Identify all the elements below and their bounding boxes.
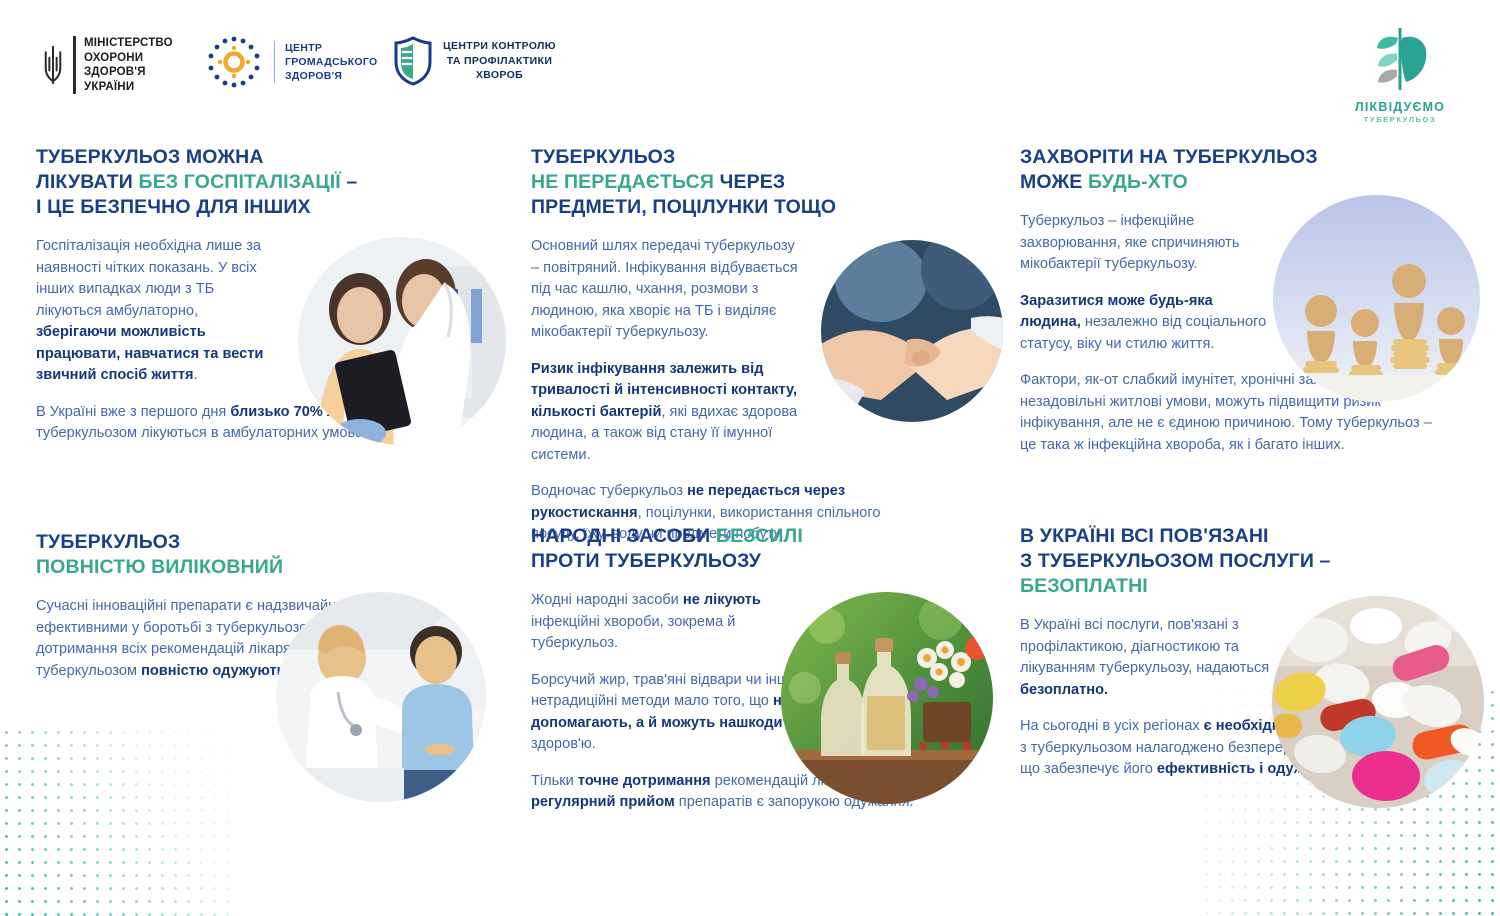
card-title: ТУБЕРКУЛЬОЗПОВНІСТЮ ВИЛІКОВНИЙ xyxy=(36,530,488,580)
lungs-leaf-icon xyxy=(1362,24,1438,98)
card-paragraph: Заразитися може будь-яка людина, незалеж… xyxy=(1020,291,1270,356)
card-title: В УКРАЇНІ ВСІ ПОВ'ЯЗАНІЗ ТУБЕРКУЛЬОЗОМ П… xyxy=(1020,524,1468,599)
phc-line-1: ЦЕНТР xyxy=(285,41,377,55)
logo-ministry-of-health: МІНІСТЕРСТВО ОХОРОНИ ЗДОРОВ'Я УКРАЇНИ xyxy=(42,36,173,94)
infographic-grid: ТУБЕРКУЛЬОЗ МОЖНАЛІКУВАТИ БЕЗ ГОСПІТАЛІЗ… xyxy=(0,132,1500,916)
card-folk-remedies-powerless: НАРОДНІ ЗАСОБИ БЕЗСИЛІПРОТИ ТУБЕРКУЛЬОЗУ xyxy=(531,524,961,814)
handshake-photo xyxy=(821,240,1003,422)
card-paragraph: В Україні всі послуги, пов'язані з профі… xyxy=(1020,615,1270,701)
cdc-line-1: ЦЕНТРИ КОНТРОЛЮ xyxy=(443,39,556,54)
phc-dots-icon xyxy=(205,33,263,91)
card-paragraph: Туберкульоз – інфекційне захворювання, я… xyxy=(1020,211,1270,276)
campaign-subtitle: ТУБЕРКУЛЬОЗ xyxy=(1340,115,1460,124)
card-paragraph: Основний шлях передачі туберкульозу – по… xyxy=(531,236,799,344)
doctor-with-patient-tablet-photo xyxy=(298,237,506,445)
assorted-pills-photo xyxy=(1272,596,1484,808)
public-health-center-label: ЦЕНТР ГРОМАДСЬКОГО ЗДОРОВ'Я xyxy=(274,41,377,83)
logo-public-health-center: ЦЕНТР ГРОМАДСЬКОГО ЗДОРОВ'Я xyxy=(205,33,377,91)
card-title: ЗАХВОРІТИ НА ТУБЕРКУЛЬОЗМОЖЕ БУДЬ-ХТО xyxy=(1020,145,1468,195)
card-services-are-free: В УКРАЇНІ ВСІ ПОВ'ЯЗАНІЗ ТУБЕРКУЛЬОЗОМ П… xyxy=(1020,524,1468,781)
doctor-examining-male-patient-photo xyxy=(276,592,486,802)
logo-cdc: ЦЕНТРИ КОНТРОЛЮ ТА ПРОФІЛАКТИКИ ХВОРОБ xyxy=(393,36,556,86)
moz-line-2: ОХОРОНИ xyxy=(84,51,173,66)
card-title: ТУБЕРКУЛЬОЗ МОЖНАЛІКУВАТИ БЕЗ ГОСПІТАЛІЗ… xyxy=(36,145,488,220)
moz-line-1: МІНІСТЕРСТВО xyxy=(84,36,173,51)
logo-campaign-eliminate-tb: ЛІКВІДУЄМО ТУБЕРКУЛЬОЗ xyxy=(1340,24,1460,124)
card-paragraph: Госпіталізація необхідна лише за наявнос… xyxy=(36,236,273,387)
card-no-hospitalization: ТУБЕРКУЛЬОЗ МОЖНАЛІКУВАТИ БЕЗ ГОСПІТАЛІЗ… xyxy=(36,145,488,445)
phc-line-3: ЗДОРОВ'Я xyxy=(285,69,377,83)
cdc-line-2: ТА ПРОФІЛАКТИКИ xyxy=(443,54,556,69)
card-fully-curable: ТУБЕРКУЛЬОЗПОВНІСТЮ ВИЛІКОВНИЙ xyxy=(36,530,488,682)
herbal-remedies-bottles-photo xyxy=(781,592,993,804)
moz-line-4: УКРАЇНИ xyxy=(84,80,173,95)
campaign-title: ЛІКВІДУЄМО xyxy=(1340,100,1460,114)
card-paragraph: Ризик інфікування залежить від тривалост… xyxy=(531,359,799,467)
card-anyone-can-get-sick: ЗАХВОРІТИ НА ТУБЕРКУЛЬОЗМОЖЕ БУДЬ-ХТО xyxy=(1020,145,1468,456)
moz-line-3: ЗДОРОВ'Я xyxy=(84,65,173,80)
shield-icon xyxy=(393,36,433,86)
card-title: НАРОДНІ ЗАСОБИ БЕЗСИЛІПРОТИ ТУБЕРКУЛЬОЗУ xyxy=(531,524,961,574)
ministry-of-health-label: МІНІСТЕРСТВО ОХОРОНИ ЗДОРОВ'Я УКРАЇНИ xyxy=(73,36,173,94)
card-paragraph: Борсучий жир, трав'яні відвари чи інші н… xyxy=(531,670,799,756)
ukraine-trident-icon xyxy=(42,45,64,85)
cdc-line-3: ХВОРОБ xyxy=(443,68,556,83)
card-not-transmitted-by-objects: ТУБЕРКУЛЬОЗНЕ ПЕРЕДАЄТЬСЯ ЧЕРЕЗПРЕДМЕТИ,… xyxy=(531,145,961,546)
card-title: ТУБЕРКУЛЬОЗНЕ ПЕРЕДАЄТЬСЯ ЧЕРЕЗПРЕДМЕТИ,… xyxy=(531,145,961,220)
phc-line-2: ГРОМАДСЬКОГО xyxy=(285,55,377,69)
wooden-figures-on-coins-photo xyxy=(1273,195,1480,402)
card-paragraph: Жодні народні засоби не лікують інфекцій… xyxy=(531,590,799,655)
logo-header: МІНІСТЕРСТВО ОХОРОНИ ЗДОРОВ'Я УКРАЇНИ xyxy=(0,0,1500,132)
cdc-label: ЦЕНТРИ КОНТРОЛЮ ТА ПРОФІЛАКТИКИ ХВОРОБ xyxy=(443,39,556,83)
